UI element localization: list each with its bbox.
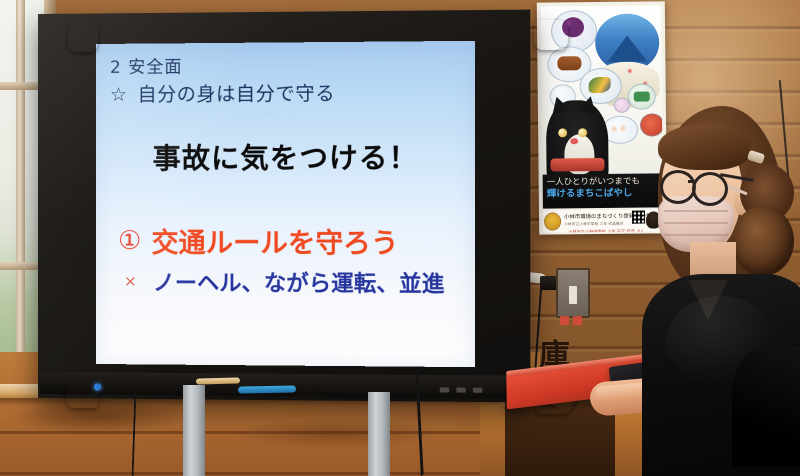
window-mullion-vertical xyxy=(16,0,25,392)
slide-subheading: ☆自分の身は自分で守る xyxy=(110,78,462,107)
slide-heading: 2 安全面 xyxy=(110,55,462,78)
slide-point-text: 交通ルールを守ろう xyxy=(151,221,398,261)
display-stand-leg-right xyxy=(368,392,390,476)
wall-power-outlet[interactable] xyxy=(556,268,590,318)
mask-pleat xyxy=(664,222,728,224)
glasses-lens-right xyxy=(692,172,728,206)
corner-guard-top-left xyxy=(68,22,98,52)
cat-scarf xyxy=(550,158,604,172)
presenter xyxy=(636,96,800,476)
outlet-socket-slot xyxy=(569,286,577,304)
slide-content: 2 安全面 ☆自分の身は自分で守る 事故に気をつける！ ① 交通ルールを守ろう … xyxy=(96,41,475,367)
mask-pleat xyxy=(664,210,728,212)
classroom-presentation-scene: 文庫 年度 ナ xyxy=(0,0,800,476)
cross-mark-icon: × xyxy=(124,272,137,290)
slide-subpoint-1: × ノーヘル、ながら運転、並進 xyxy=(110,265,462,299)
display-stand-leg-left xyxy=(183,385,205,476)
flat-panel-display[interactable]: 2 安全面 ☆自分の身は自分で守る 事故に気をつける！ ① 交通ルールを守ろう … xyxy=(38,14,520,398)
cat-eye-right xyxy=(578,128,587,137)
hair-front xyxy=(658,124,750,170)
slide-subheading-text: 自分の身は自分で守る xyxy=(138,83,336,106)
display-menu-button[interactable] xyxy=(440,387,449,392)
outlet-warning-labels xyxy=(560,316,586,325)
arm xyxy=(732,346,800,466)
award-rosette-icon xyxy=(545,213,560,229)
point-number-icon: ① xyxy=(118,226,141,256)
slide-subpoint-text: ノーヘル、ながら運転、並進 xyxy=(153,265,445,299)
wooden-pointer[interactable] xyxy=(196,377,240,384)
cat-eye-left xyxy=(558,128,567,137)
blue-marker[interactable] xyxy=(238,385,296,393)
poster-cat-mascot xyxy=(546,100,609,179)
cat-ear-right xyxy=(578,94,599,114)
mask-pleat xyxy=(664,234,728,236)
glasses-lens-left xyxy=(660,170,696,204)
display-volume-button[interactable] xyxy=(473,388,482,393)
presentation-slide[interactable]: 2 安全面 ☆自分の身は自分で守る 事故に気をつける！ ① 交通ルールを守ろう … xyxy=(96,41,475,367)
star-icon: ☆ xyxy=(110,84,128,106)
glasses-bridge xyxy=(688,180,696,183)
corner-guard-top-right xyxy=(534,20,568,50)
display-input-button[interactable] xyxy=(456,387,465,392)
corner-guard-bottom-left xyxy=(66,380,98,408)
slide-headline: 事故に気をつける！ xyxy=(110,136,462,177)
slide-point-1: ① 交通ルールを守ろう xyxy=(110,221,462,261)
hair-bun xyxy=(732,206,794,276)
cat-nose xyxy=(570,138,578,144)
